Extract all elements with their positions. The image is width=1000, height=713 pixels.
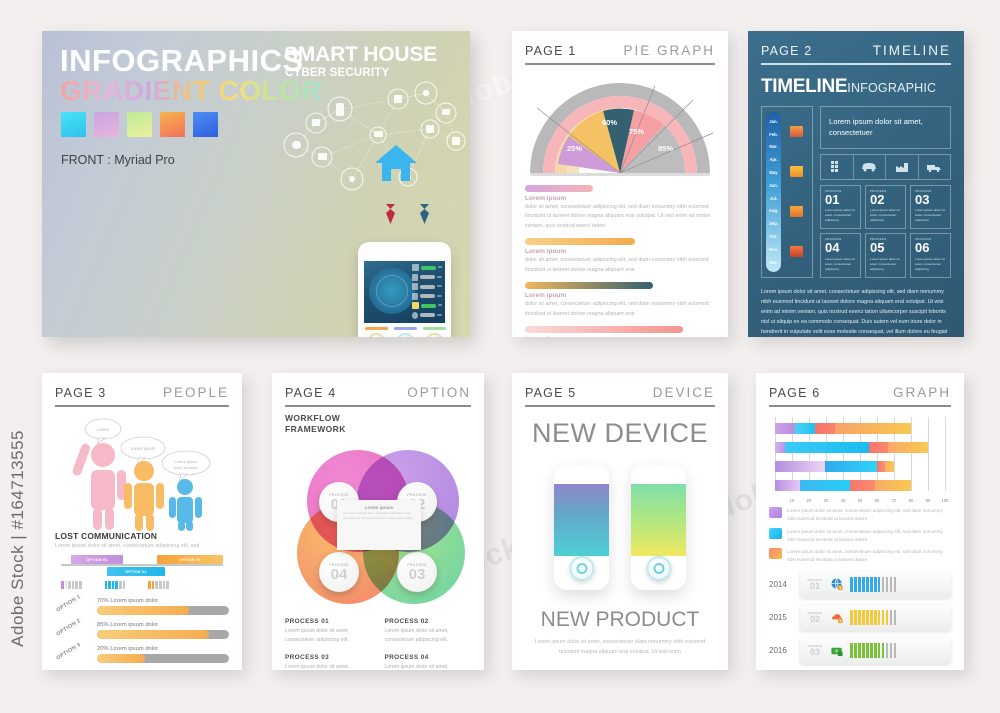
- x-tick: 10: [790, 498, 795, 503]
- toggle-pill[interactable]: [420, 313, 434, 317]
- process-desc-text: Lorem ipsum dolor sit amet, consectetuer…: [385, 663, 472, 670]
- process-text: Lorem ipsum dolor sit amet, consectetuer…: [870, 208, 901, 223]
- timeline-title-light: INFOGRAPHIC: [847, 81, 936, 95]
- timeline-icon-row: [820, 154, 951, 180]
- grid-line: [911, 417, 912, 491]
- globe-lock-icon: [830, 578, 844, 591]
- header-rule: [769, 405, 951, 407]
- venn-diagram[interactable]: Lorem ipsum Lorem ipsum dolor sit amet, …: [285, 440, 471, 610]
- battery-meter-blue: [105, 581, 126, 589]
- progress-row[interactable]: OPTION 1 70% Lorem ipsum dolor: [97, 598, 229, 615]
- year-row-2014[interactable]: 2014 PROCESS 01: [769, 572, 951, 598]
- stacked-bar-chart[interactable]: 10 20 30 40 50 60 70 80 90 100: [769, 417, 951, 503]
- toggle-label: OFF: [437, 276, 442, 279]
- page5-label: PAGE 5: [525, 386, 576, 400]
- bar-segment-cyan: [825, 461, 877, 472]
- progress-track: [97, 630, 229, 639]
- timeline-title: TIMELINEINFOGRAPHIC: [761, 76, 951, 98]
- toggle-row[interactable]: OFF: [412, 274, 442, 281]
- month-label: Aug.: [769, 208, 778, 213]
- graph-legend-item[interactable]: Lorem ipsum dolor sit amet, consectetuer…: [769, 528, 951, 545]
- books-icon: [790, 126, 803, 137]
- timeline-right-column: Lorem ipsum dolor sit amet, consectetuer: [820, 106, 951, 278]
- people-figures: Lorem Lorem ipsum Lorem ipsum dolor sit …: [55, 413, 229, 531]
- header-rule: [285, 405, 471, 407]
- month-label: Apr.: [769, 157, 777, 162]
- node-number: 03: [409, 567, 426, 582]
- progress-fill: [97, 654, 145, 663]
- people-illustration: Lorem Lorem ipsum Lorem ipsum dolor sit …: [55, 413, 229, 531]
- page2-card[interactable]: PAGE 2 TIMELINE TIMELINEINFOGRAPHIC Jan.…: [748, 31, 964, 337]
- process-text: Lorem ipsum dolor sit amet, consectetuer…: [915, 208, 946, 223]
- legend-swatch-cyan: [769, 528, 782, 539]
- option-tab-2[interactable]: OPTION 02: [107, 567, 165, 576]
- grid-line: [945, 417, 946, 491]
- toggle-label: OFF: [437, 314, 442, 317]
- month-label: Jan.: [769, 119, 777, 124]
- banner-title-primary: INFOGRAPHICS: [60, 43, 304, 79]
- stock-watermark-vertical: Adobe Stock | #164713555: [8, 430, 28, 647]
- process-text: Lorem ipsum dolor sit amet, consectetuer…: [915, 257, 946, 272]
- bulb-icon: [412, 302, 419, 309]
- process-number: 01: [825, 193, 856, 207]
- legend-item[interactable]: Lorem ipoum dolor sit amet, consectetuer…: [525, 282, 715, 319]
- venn-center-text: Lorem ipsum dolor sit amet, consectetuer…: [343, 512, 415, 521]
- venn-center-card[interactable]: Lorem ipsum Lorem ipsum dolor sit amet, …: [337, 500, 421, 550]
- x-tick: 70: [892, 498, 897, 503]
- device-screen-right: [631, 484, 686, 556]
- bar-segment-cyan: [800, 480, 850, 491]
- page5-section: DEVICE: [653, 385, 715, 400]
- page3-subtext: Lorem ipsum dolor sit amet, consectetuer…: [55, 543, 229, 549]
- badge-number: 02: [810, 615, 820, 624]
- graph-legend-item[interactable]: Lorem ipsum dolor sit amet, consectetuer…: [769, 548, 951, 565]
- process-grid: PROCESS 01 Lorem ipsum dolor sit amet, c…: [820, 185, 951, 278]
- workflow-heading-line1: WORKFLOW: [285, 413, 471, 424]
- toggle-pill[interactable]: [420, 285, 434, 289]
- legend-title: Lorem ipoum: [525, 292, 715, 299]
- house-icon: [374, 143, 418, 183]
- bar-segment-orange: [875, 480, 911, 491]
- venn-center-title: Lorem ipsum: [343, 505, 415, 510]
- workflow-heading-line2: FRAMEWORK: [285, 424, 471, 435]
- knob-control[interactable]: [365, 327, 388, 337]
- smart-house-tablet[interactable]: ON OFF OFF OFF ON OFF: [358, 242, 451, 337]
- legend-item[interactable]: Lorem ipoum dolor sit amet, consectetuer…: [525, 238, 715, 275]
- page6-card[interactable]: PAGE 6 GRAPH: [756, 373, 964, 670]
- x-tick: 90: [926, 498, 931, 503]
- process-box[interactable]: PROCESS 06 Lorem ipsum dolor sit amet, c…: [910, 233, 951, 277]
- page1-section: PIE GRAPH: [623, 43, 715, 58]
- banner-card[interactable]: INFOGRAPHICS GRADIENT COLOR FRONT : Myri…: [42, 31, 470, 337]
- legend-title: Lorem ipoum: [525, 195, 715, 202]
- page1-header: PAGE 1 PIE GRAPH: [525, 43, 715, 58]
- progress-bars: OPTION 1 70% Lorem ipsum dolor OPTION 2 …: [55, 598, 229, 663]
- color-swatch[interactable]: [193, 112, 218, 137]
- month-label: Feb.: [769, 132, 778, 137]
- year-panel[interactable]: PROCESS 02: [800, 605, 951, 631]
- timeline-title-bold: TIMELINE: [761, 76, 847, 97]
- bar-segment-orange: [885, 461, 894, 472]
- bar-row-2[interactable]: [775, 442, 928, 453]
- svg-text:Lorem ipsum: Lorem ipsum: [131, 446, 156, 451]
- x-tick: 80: [909, 498, 914, 503]
- graph-legend-item[interactable]: Lorem ipsum dolor sit amet, consectetuer…: [769, 507, 951, 524]
- year-meter: [850, 643, 896, 658]
- page2-label: PAGE 2: [761, 44, 812, 58]
- option-rule: [61, 564, 223, 566]
- play-icon: [412, 312, 418, 319]
- page2-section: TIMELINE: [873, 43, 951, 58]
- legend-bar: [525, 238, 635, 245]
- badge-number: 01: [810, 582, 820, 591]
- progress-caption: 20% Lorem ipsum dolor: [97, 646, 229, 652]
- toggle-row[interactable]: OFF: [412, 283, 442, 290]
- x-tick: 100: [942, 498, 949, 503]
- process-description-grid: PROCESS 01 Lorem ipsum dolor sit amet, c…: [285, 618, 471, 670]
- cloud-lock-icon: [830, 611, 844, 624]
- process-box[interactable]: PROCESS 04 Lorem ipsum dolor sit amet, c…: [820, 233, 861, 277]
- process-desc-03[interactable]: PROCESS 03 Lorem ipsum dolor sit amet, c…: [285, 654, 372, 670]
- chart-icon: [790, 246, 803, 257]
- header-rule: [525, 63, 715, 65]
- page1-card[interactable]: PAGE 1 PIE GRAPH 25% 60%: [512, 31, 728, 337]
- color-swatch-row: [61, 112, 218, 137]
- year-label: 2015: [769, 613, 793, 622]
- map-pin-blue-icon: [420, 204, 429, 224]
- bar-segment-purple: [775, 423, 795, 434]
- toggle-row[interactable]: OFF: [412, 293, 442, 300]
- color-swatch[interactable]: [61, 112, 86, 137]
- month-label: May: [769, 170, 777, 175]
- month-column[interactable]: Jan. Feb. Mar. Apr. May Jun. Jul. Aug. S…: [761, 106, 813, 278]
- header-rule: [55, 405, 229, 407]
- legend-title: Lorem ipoum: [525, 248, 715, 255]
- bar-segment-cyan: [785, 442, 869, 453]
- bar-segment-cyan: [795, 423, 815, 434]
- knob-control[interactable]: [423, 327, 446, 337]
- toggle-pill[interactable]: [420, 275, 434, 279]
- process-desc-text: Lorem ipsum dolor sit amet, consectetuer…: [285, 627, 372, 645]
- page4-section: OPTION: [407, 385, 471, 400]
- process-box[interactable]: PROCESS 01 Lorem ipsum dolor sit amet, c…: [820, 185, 861, 229]
- svg-text:dolor sit amet,: dolor sit amet,: [173, 465, 198, 470]
- page5-card[interactable]: PAGE 5 DEVICE NEW DEVICE NEW PRODUCT Lor…: [512, 373, 728, 670]
- pie-pct-label: 25%: [567, 144, 582, 153]
- page1-legend-list: Lorem ipoum dolor sit amet, consectetuer…: [525, 185, 715, 337]
- toggle-label: OFF: [437, 295, 442, 298]
- page6-header: PAGE 6 GRAPH: [769, 385, 951, 400]
- gear-icon: [790, 206, 803, 217]
- process-text: Lorem ipsum dolor sit amet, consectetuer…: [870, 257, 901, 272]
- x-tick: 30: [824, 498, 829, 503]
- page1-label: PAGE 1: [525, 44, 576, 58]
- process-box[interactable]: PROCESS 05 Lorem ipsum dolor sit amet, c…: [865, 233, 906, 277]
- process-desc-04[interactable]: PROCESS 04 Lorem ipsum dolor sit amet, c…: [385, 654, 472, 670]
- bar-segment-red: [869, 442, 888, 453]
- page3-section: PEOPLE: [163, 385, 229, 400]
- progress-track: [97, 606, 229, 615]
- process-number: 05: [870, 241, 901, 255]
- bar-segment-orange: [835, 423, 911, 434]
- year-badge: PROCESS 02: [804, 612, 826, 624]
- monitor-icon: [412, 283, 418, 290]
- keypad-icon[interactable]: [821, 155, 854, 179]
- tablet-knob-row: [365, 327, 446, 337]
- legend-title: Lorem ipoum: [525, 336, 715, 337]
- device-screen-left: [554, 484, 609, 556]
- toggle-pill[interactable]: [420, 294, 434, 298]
- battery-meter-orange: [148, 581, 169, 589]
- bar-row-4[interactable]: [775, 480, 911, 491]
- year-label: 2016: [769, 646, 793, 655]
- month-strip: Jan. Feb. Mar. Apr. May Jun. Jul. Aug. S…: [766, 112, 781, 272]
- progress-axis-label: OPTION 3: [55, 642, 82, 662]
- year-meter: [850, 610, 896, 625]
- process-desc-title: PROCESS 04: [385, 654, 472, 661]
- page4-label: PAGE 4: [285, 386, 336, 400]
- legend-text: dolor sit amet, consectetuer adipiscing …: [525, 300, 715, 319]
- toggle-row[interactable]: ON: [412, 302, 442, 309]
- svg-text:Lorem ipsum: Lorem ipsum: [174, 459, 198, 464]
- grid-line: [928, 417, 929, 491]
- new-product-text: Lorem ipsum dolor sit amet, consectetuer…: [525, 637, 715, 657]
- radar-graphic: [369, 268, 415, 314]
- legend-text: dolor sit amet, consectetuer adipiscing …: [525, 256, 715, 275]
- progress-fill: [97, 606, 189, 615]
- progress-axis-label: OPTION 1: [55, 594, 82, 614]
- node-number: 04: [331, 567, 348, 582]
- process-number: 04: [825, 241, 856, 255]
- x-tick: 60: [875, 498, 880, 503]
- process-number: 06: [915, 241, 946, 255]
- process-text: Lorem ipsum dolor sit amet, consectetuer…: [825, 257, 856, 272]
- process-box[interactable]: PROCESS 02 Lorem ipsum dolor sit amet, c…: [865, 185, 906, 229]
- legend-text: dolor sit amet, consectetuer adipiscing …: [525, 203, 715, 231]
- header-rule: [761, 63, 951, 65]
- svg-text:Lorem: Lorem: [97, 427, 109, 432]
- bar-row-3[interactable]: [775, 461, 894, 472]
- page2-header: PAGE 2 TIMELINE: [761, 43, 951, 58]
- page3-heading: LOST COMMUNICATION: [55, 531, 229, 541]
- color-swatch[interactable]: [160, 112, 185, 137]
- toggle-label: OFF: [437, 285, 442, 288]
- process-desc-title: PROCESS 01: [285, 618, 372, 625]
- legend-text: Lorem ipsum dolor sit amet, consectetuer…: [787, 528, 951, 545]
- bar-segment-purple: [775, 442, 785, 453]
- color-swatch[interactable]: [94, 112, 119, 137]
- bar-segment-purple: [775, 461, 825, 472]
- x-tick: 20: [807, 498, 812, 503]
- printer-icon: [412, 274, 418, 281]
- smart-house-subtitle: CYBER SECURITY: [285, 67, 389, 79]
- new-device-title: NEW DEVICE: [525, 418, 715, 449]
- truck-icon[interactable]: [919, 155, 951, 179]
- progress-fill: [97, 630, 209, 639]
- process-desc-title: PROCESS 02: [385, 618, 472, 625]
- device-phone-left[interactable]: [554, 465, 609, 590]
- timeline-body: Jan. Feb. Mar. Apr. May Jun. Jul. Aug. S…: [761, 106, 951, 278]
- year-badge: PROCESS 01: [804, 579, 826, 591]
- page3-header: PAGE 3 PEOPLE: [55, 385, 229, 400]
- month-label: Oct.: [769, 234, 777, 239]
- bar-row-1[interactable]: [775, 423, 911, 434]
- toggle-pill[interactable]: [421, 304, 436, 308]
- smart-house-title: SMART HOUSE: [284, 43, 437, 67]
- month-label: Mar.: [769, 144, 777, 149]
- badge-number: 03: [810, 648, 820, 657]
- process-desc-text: Lorem ipsum dolor sit amet, consectetuer…: [285, 663, 372, 670]
- pie-gauge[interactable]: 25% 60% 75% 85%: [525, 78, 715, 178]
- progress-axis-label: OPTION 2: [55, 618, 82, 638]
- year-panel[interactable]: PROCESS 01: [800, 572, 951, 598]
- toggle-row[interactable]: OFF: [412, 312, 442, 319]
- legend-bar: [525, 326, 683, 333]
- toggle-list: ON OFF OFF OFF ON OFF: [412, 264, 442, 322]
- month-label: Jun.: [769, 183, 778, 188]
- legend-bar: [525, 282, 653, 289]
- pie-pct-label: 85%: [658, 144, 673, 153]
- header-rule: [525, 405, 715, 407]
- legend-text: Lorem ipsum dolor sit amet, consectetuer…: [787, 548, 951, 565]
- month-label: Dec.: [769, 260, 778, 265]
- option-tab-3[interactable]: OPTION 03: [157, 555, 223, 564]
- month-label: Jul.: [770, 196, 777, 201]
- x-tick: 50: [858, 498, 863, 503]
- page4-header: PAGE 4 OPTION: [285, 385, 471, 400]
- page6-label: PAGE 6: [769, 386, 820, 400]
- device-row: [525, 465, 715, 590]
- semi-donut-chart: [525, 78, 715, 178]
- legend-swatch-orange: [769, 548, 782, 559]
- toggle-row[interactable]: ON: [412, 264, 442, 271]
- font-note: FRONT : Myriad Pro: [61, 153, 175, 167]
- progress-track: [97, 654, 229, 663]
- progress-caption: 70% Lorem ipsum dolor: [97, 598, 229, 604]
- venn-node-03[interactable]: PROCESS 03: [397, 552, 437, 592]
- x-tick: 40: [841, 498, 846, 503]
- legend-item[interactable]: Lorem ipoum dolor sit amet, consectetuer…: [525, 185, 715, 231]
- progress-row[interactable]: OPTION 3 20% Lorem ipsum dolor: [97, 646, 229, 663]
- process-desc-title: PROCESS 03: [285, 654, 372, 661]
- device-knob-left[interactable]: [569, 556, 594, 581]
- year-label: 2014: [769, 580, 793, 589]
- graph-legend: Lorem ipsum dolor sit amet, consectetuer…: [769, 507, 951, 565]
- bar-segment-red: [877, 461, 885, 472]
- buildings-icon: [790, 166, 803, 177]
- toggle-label: ON: [438, 266, 442, 269]
- money-icon: [830, 644, 844, 657]
- process-number: 03: [915, 193, 946, 207]
- process-desc-01[interactable]: PROCESS 01 Lorem ipsum dolor sit amet, c…: [285, 618, 372, 645]
- device-knob-right[interactable]: [646, 556, 671, 581]
- legend-bar: [525, 185, 593, 192]
- year-row-2015[interactable]: 2015 PROCESS 02: [769, 605, 951, 631]
- year-meter: [850, 577, 896, 592]
- legend-item[interactable]: Lorem ipoum dolor sit amet, consectetuer…: [525, 326, 715, 337]
- battery-meter-purple: [61, 581, 82, 589]
- process-desc-text: Lorem ipsum dolor sit amet, consectetuer…: [385, 627, 472, 645]
- map-pin-red-icon: [386, 204, 395, 224]
- toggle-pill[interactable]: [421, 266, 436, 270]
- process-desc-02[interactable]: PROCESS 02 Lorem ipsum dolor sit amet, c…: [385, 618, 472, 645]
- car-icon: [412, 293, 418, 300]
- poster-canvas: Adobe Stock | #164713555 Adobe Stock Ado…: [0, 0, 1000, 713]
- option-tab-1[interactable]: OPTION 01: [71, 555, 123, 564]
- timeline-quote: Lorem ipsum dolor sit amet, consectetuer: [820, 106, 951, 149]
- process-text: Lorem ipsum dolor sit amet, consectetuer…: [825, 208, 856, 223]
- page4-card[interactable]: PAGE 4 OPTION WORKFLOW FRAMEWORK Lorem i…: [272, 373, 484, 670]
- progress-caption: 85% Lorem ipsum dolor: [97, 622, 229, 628]
- timeline-paragraph: Lorem ipsum dolor sit amet, consectetuer…: [761, 287, 951, 337]
- process-box[interactable]: PROCESS 03 Lorem ipsum dolor sit amet, c…: [910, 185, 951, 229]
- bar-segment-orange: [888, 442, 928, 453]
- workflow-heading: WORKFLOW FRAMEWORK: [285, 413, 471, 434]
- progress-row[interactable]: OPTION 2 85% Lorem ipsum dolor: [97, 622, 229, 639]
- bar-segment-purple: [775, 480, 800, 491]
- year-badge: PROCESS 03: [804, 645, 826, 657]
- process-number: 02: [870, 193, 901, 207]
- new-product-title: NEW PRODUCT: [525, 608, 715, 632]
- year-row-2016[interactable]: 2016 PROCESS 03: [769, 638, 951, 664]
- month-label: Nov.: [769, 247, 778, 252]
- month-label: Sep.: [769, 221, 778, 226]
- color-swatch[interactable]: [127, 112, 152, 137]
- battery-meter-row: [61, 581, 229, 589]
- page3-label: PAGE 3: [55, 386, 106, 400]
- device-phone-right[interactable]: [631, 465, 686, 590]
- bar-segment-red: [850, 480, 875, 491]
- page3-card[interactable]: PAGE 3 PEOPLE Lorem Lorem ipsum Lorem ip…: [42, 373, 242, 670]
- legend-swatch-purple: [769, 507, 782, 518]
- page5-header: PAGE 5 DEVICE: [525, 385, 715, 400]
- car-icon[interactable]: [854, 155, 887, 179]
- timeline-icon-column: [784, 112, 808, 272]
- year-panel[interactable]: PROCESS 03: [800, 638, 951, 664]
- venn-node-04[interactable]: PROCESS 04: [319, 552, 359, 592]
- factory-icon[interactable]: [886, 155, 919, 179]
- knob-control[interactable]: [394, 327, 417, 337]
- pie-pct-label: 60%: [602, 118, 617, 127]
- tablet-screen: ON OFF OFF OFF ON OFF: [364, 261, 445, 323]
- pie-pct-label: 75%: [629, 127, 644, 136]
- toggle-label: ON: [438, 304, 442, 307]
- legend-text: Lorem ipsum dolor sit amet, consectetuer…: [787, 507, 951, 524]
- option-tabs: OPTION 01 OPTION 03 OPTION 02: [55, 554, 229, 579]
- bar-segment-red: [815, 423, 835, 434]
- signal-icon: [412, 264, 419, 271]
- page6-section: GRAPH: [893, 385, 951, 400]
